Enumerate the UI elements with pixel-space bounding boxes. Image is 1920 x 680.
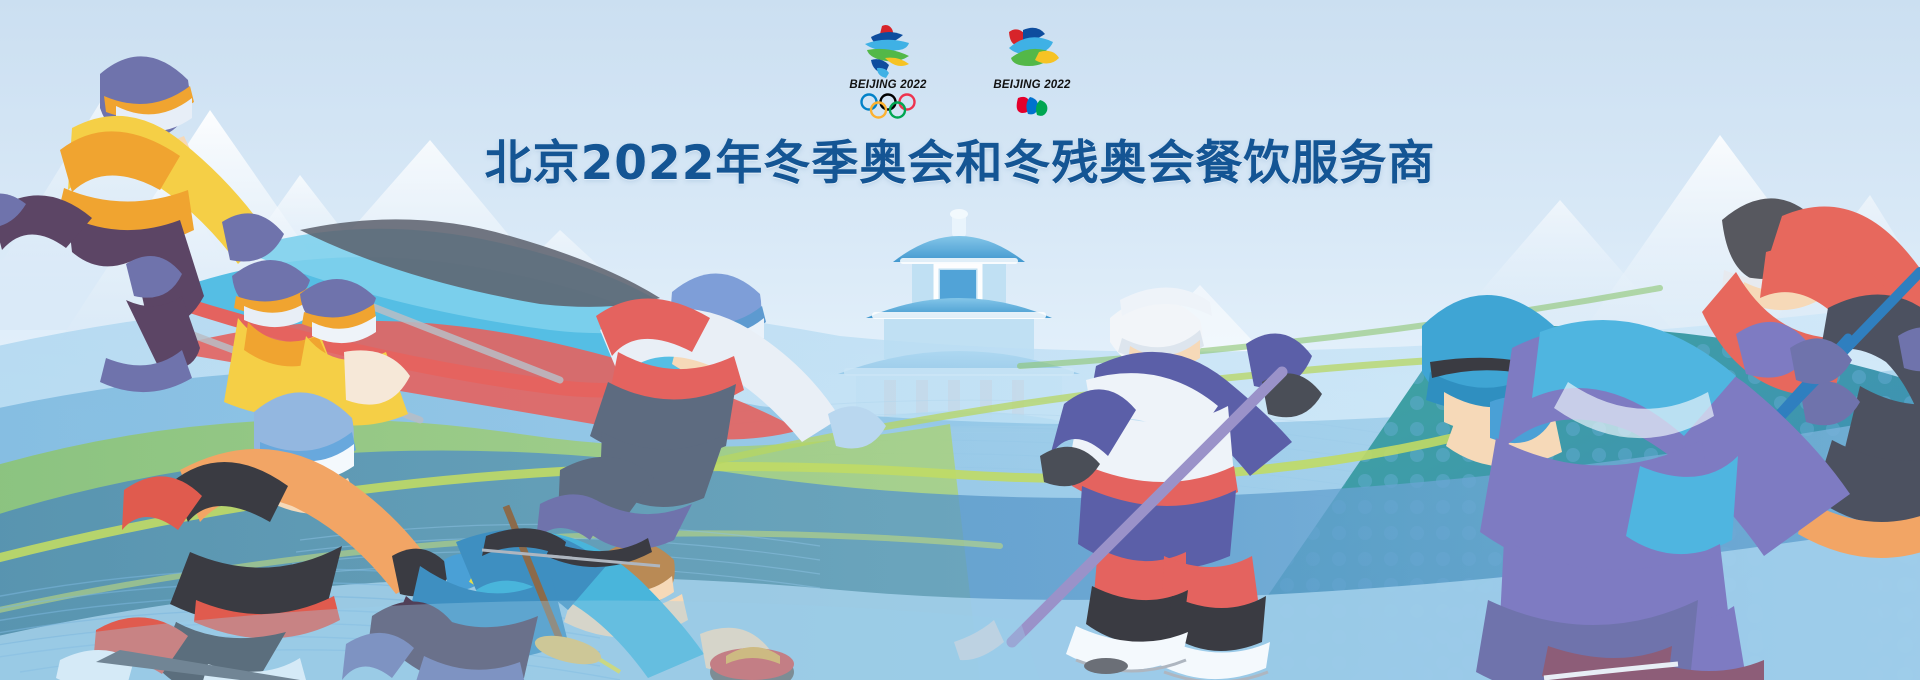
olympic-banner: BEIJING 2022 BEIJING 2022 — [0, 0, 1920, 680]
page-title: 北京2022年冬季奥会和冬残奥会餐饮服务商 — [485, 124, 1436, 193]
beijing-2022-paralympic-mark — [995, 22, 1069, 78]
paralympic-emblem: BEIJING 2022 — [986, 22, 1078, 117]
olympic-wordmark: BEIJING 2022 — [849, 79, 926, 91]
title-area: 北京2022年冬季奥会和冬残奥会餐饮服务商 — [0, 124, 1920, 193]
olympic-rings-icon — [857, 93, 919, 119]
olympic-emblem: BEIJING 2022 — [842, 22, 934, 119]
agitos-icon — [1010, 95, 1054, 117]
beijing-2022-olympic-mark — [851, 22, 925, 78]
paralympic-wordmark: BEIJING 2022 — [993, 79, 1070, 91]
emblem-group: BEIJING 2022 BEIJING 2022 — [0, 22, 1920, 119]
